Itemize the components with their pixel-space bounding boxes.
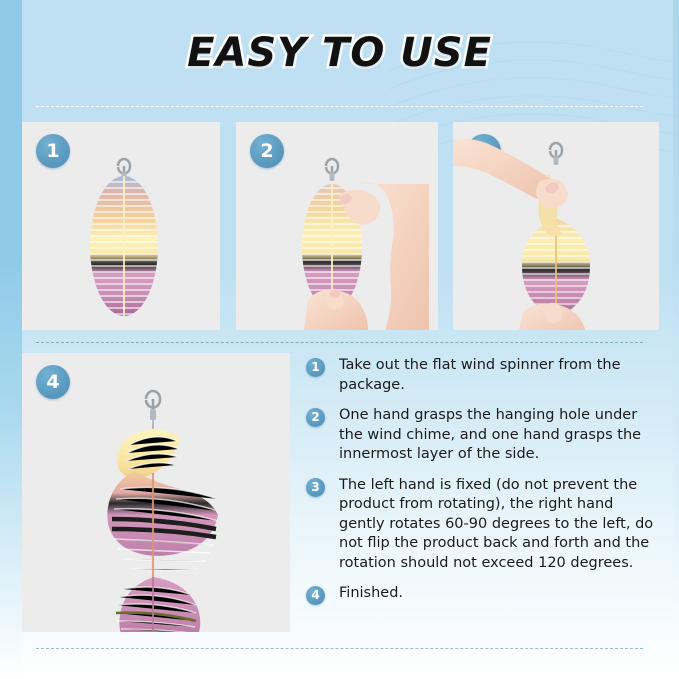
- hands-twisting-illustration: [453, 122, 659, 330]
- instruction-text-2: One hand grasps the hanging hole under t…: [339, 406, 661, 465]
- page-title: EASY TO USE: [0, 30, 679, 76]
- spinner-flat-illustration: [74, 136, 174, 324]
- instruction-item: 1 Take out the flat wind spinner from th…: [306, 356, 661, 395]
- instruction-badge-1: 1: [306, 358, 325, 377]
- instruction-list: 1 Take out the flat wind spinner from th…: [306, 356, 661, 615]
- instruction-text-3: The left hand is fixed (do not prevent t…: [339, 476, 661, 574]
- left-edge-band: [0, 0, 22, 679]
- instruction-badge-2: 2: [306, 408, 325, 427]
- instruction-text-1: Take out the flat wind spinner from the …: [339, 356, 661, 395]
- divider-top: [36, 106, 643, 107]
- instruction-badge-3: 3: [306, 478, 325, 497]
- photo-panel-step-3: 3: [453, 122, 659, 330]
- instruction-badge-4: 4: [306, 586, 325, 605]
- photo-panel-step-1: 1: [22, 122, 220, 330]
- photo-panel-step-4: 4: [22, 353, 290, 632]
- right-edge-band: [673, 0, 679, 679]
- finished-spinner-illustration: [22, 353, 290, 632]
- photo-panel-step-2: 2: [236, 122, 438, 330]
- divider-middle: [36, 342, 643, 343]
- divider-bottom: [36, 648, 643, 649]
- page-title-text: EASY TO USE: [187, 30, 492, 76]
- instruction-item: 3 The left hand is fixed (do not prevent…: [306, 476, 661, 574]
- panel-badge-1: 1: [36, 134, 70, 168]
- instruction-item: 2 One hand grasps the hanging hole under…: [306, 406, 661, 465]
- hands-grasping-illustration: [236, 122, 438, 330]
- infographic-page: EASY TO USE 1: [0, 0, 679, 679]
- instruction-text-4: Finished.: [339, 584, 661, 604]
- instruction-item: 4 Finished.: [306, 584, 661, 604]
